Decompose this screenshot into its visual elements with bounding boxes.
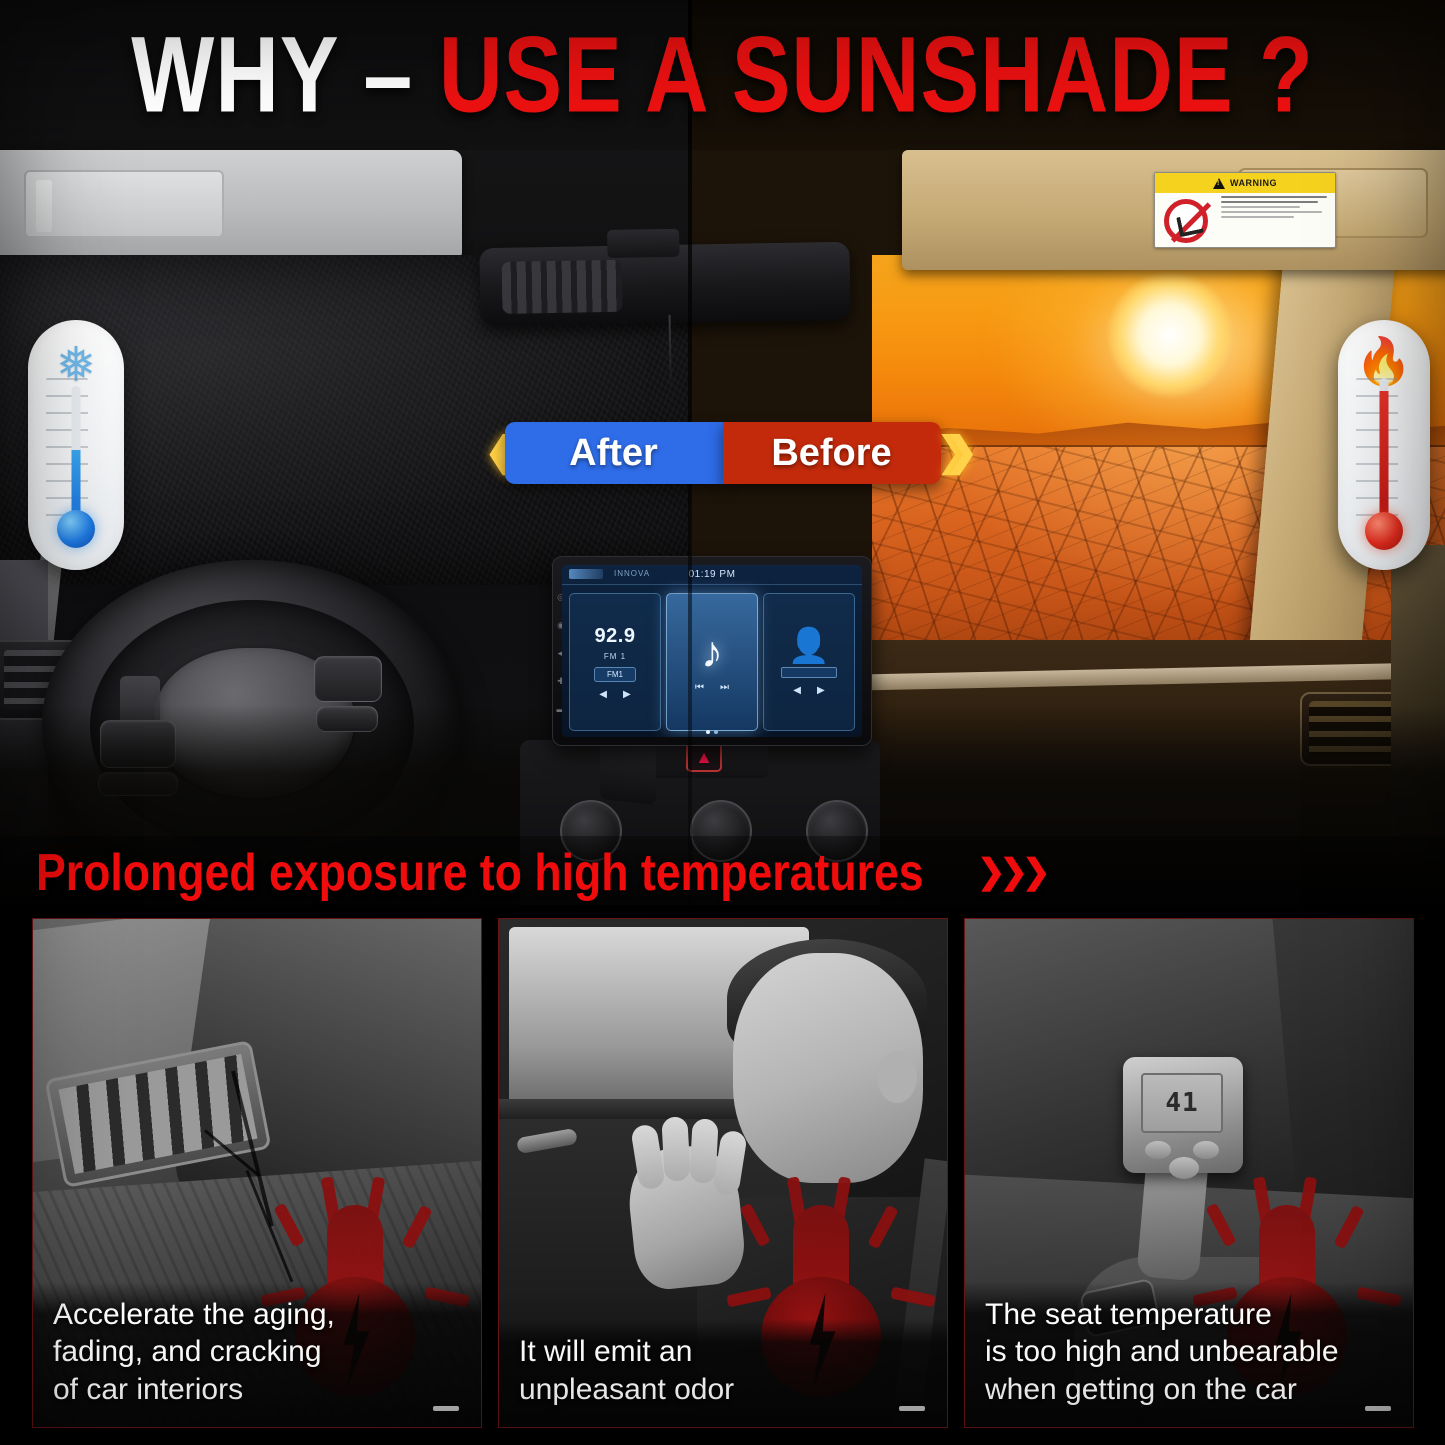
sunshade-product-poster: WARNING [0,0,1445,1445]
consequence-panels: Accelerate the aging, fading, and cracki… [32,918,1414,1428]
visor-mirror-cover [24,170,224,238]
thermometer-bulb-cool [57,510,95,548]
caption-dash-2 [899,1406,925,1411]
warning-triangle-icon [1213,178,1225,189]
mirror-clip [502,260,623,314]
before-badge: Before [723,422,941,484]
right-chevrons: ❯ ❯ [941,436,957,470]
thermometer-gun-reading: 41 [1165,1088,1198,1118]
warning-body [1155,193,1335,248]
before-after-hero: WARNING [0,0,1445,905]
sun-visor-grey [0,150,462,262]
person-icon: 👤 [788,629,830,663]
warning-heading-text: WARNING [1230,178,1277,188]
thermometer-gun-grip [1136,1167,1207,1282]
gun-button-right [1193,1141,1219,1159]
subhead-text: Prolonged exposure to high temperatures [36,842,924,902]
page-dot-active[interactable] [706,730,710,734]
title-white-part: WHY – [131,13,439,137]
panel-caption-text-1: Accelerate the aging, fading, and cracki… [53,1296,463,1409]
panel-caption-text-2: It will emit an unpleasant odor [519,1333,929,1409]
radio-card[interactable]: 92.9 FM 1 FM1 ◀ ▶ [569,593,661,731]
sun-visor-tan: WARNING [902,150,1445,270]
status-bar: INNOVA 01:19 PM [562,565,862,585]
after-badge: After [505,422,723,484]
chevron-right-icon-3: ❯ [1022,852,1051,892]
thermometer-gun-display: 41 [1141,1073,1223,1133]
thermometer-bulb-hot [1365,512,1403,550]
radio-frequency: 92.9 [595,625,636,648]
gun-button-center [1169,1157,1199,1179]
radio-band: FM 1 [604,652,626,661]
page-dots[interactable] [562,730,862,734]
no-child-seat-icon [1164,199,1208,243]
before-after-badges: ❮ ❮ After Before ❯ ❯ [0,418,1445,488]
media-prev-icon[interactable]: ⏮ [695,682,704,693]
warning-header: WARNING [1155,173,1335,193]
media-card[interactable]: ♪ ⏮ ⏭ [666,593,758,731]
subhead-chevrons: ❯ ❯ ❯ [983,852,1051,892]
screen-cards: 92.9 FM 1 FM1 ◀ ▶ ♪ ⏮ ⏭ [562,587,862,737]
steering-control-left-top [100,720,176,768]
contact-nav-controls[interactable]: ◀ ▶ [793,685,824,696]
infotainment-head-unit[interactable]: ◎ ◉ ◀ ✚ ▬ INNOVA 01:19 PM 92.9 FM 1 FM1 [552,556,872,746]
left-chevrons: ❮ ❮ [489,436,505,470]
chevron-right-icon-outer: ❯ [945,436,961,470]
panel-caption-2: It will emit an unpleasant odor [499,1319,947,1427]
caption-dash-1 [433,1406,459,1411]
airbag-warning-label: WARNING [1154,172,1336,248]
steering-control-left-bottom [98,772,178,796]
panel-hot-seat: 41 The seat temperature is too [964,918,1414,1428]
phone-card[interactable]: 👤 ◀ ▶ [763,593,855,731]
media-next-icon[interactable]: ⏭ [720,682,729,693]
warning-symbol [1155,193,1217,248]
panel-caption-text-3: The seat temperature is too high and unb… [985,1296,1395,1409]
music-note-icon: ♪ [701,631,723,675]
steering-control-right-top [314,656,382,702]
infrared-thermometer-gun: 41 [1123,1057,1243,1173]
panel-caption-1: Accelerate the aging, fading, and cracki… [33,1282,481,1427]
clock: 01:19 PM [689,569,736,580]
media-transport-controls[interactable]: ⏮ ⏭ [695,682,729,693]
contact-prev-icon[interactable]: ◀ [793,685,801,696]
infotainment-screen[interactable]: INNOVA 01:19 PM 92.9 FM 1 FM1 ◀ ▶ ♪ [562,565,862,737]
page-title: WHY – USE A SUNSHADE ? [0,0,1445,150]
panel-caption-3: The seat temperature is too high and unb… [965,1282,1413,1427]
head-unit-brand: INNOVA [614,569,650,578]
title-red-part: USE A SUNSHADE ? [439,13,1314,137]
panel-unpleasant-odor: It will emit an unpleasant odor [498,918,948,1428]
warning-text-lines [1217,193,1335,248]
radio-seek-controls[interactable]: ◀ ▶ [599,689,630,700]
contact-bar [781,667,837,678]
rear-view-mirror [479,242,850,326]
gun-button-left [1145,1141,1171,1159]
mirror-stem [607,229,679,258]
panel-cracked-dashboard: Accelerate the aging, fading, and cracki… [32,918,482,1428]
person-ear [877,1051,917,1103]
radio-next-icon[interactable]: ▶ [623,689,631,700]
radio-preset-chip[interactable]: FM1 [594,667,636,682]
screen-mount [600,739,656,805]
bluetooth-indicator-icon [569,569,603,579]
caption-dash-3 [1365,1406,1391,1411]
subhead-banner: Prolonged exposure to high temperatures … [0,836,1445,908]
radio-prev-icon[interactable]: ◀ [599,689,607,700]
steering-control-right-bottom [316,706,378,732]
sun-disc [1108,273,1232,397]
child-seat-glyph [1176,213,1204,238]
page-dot[interactable] [714,730,718,734]
contact-next-icon[interactable]: ▶ [817,685,825,696]
